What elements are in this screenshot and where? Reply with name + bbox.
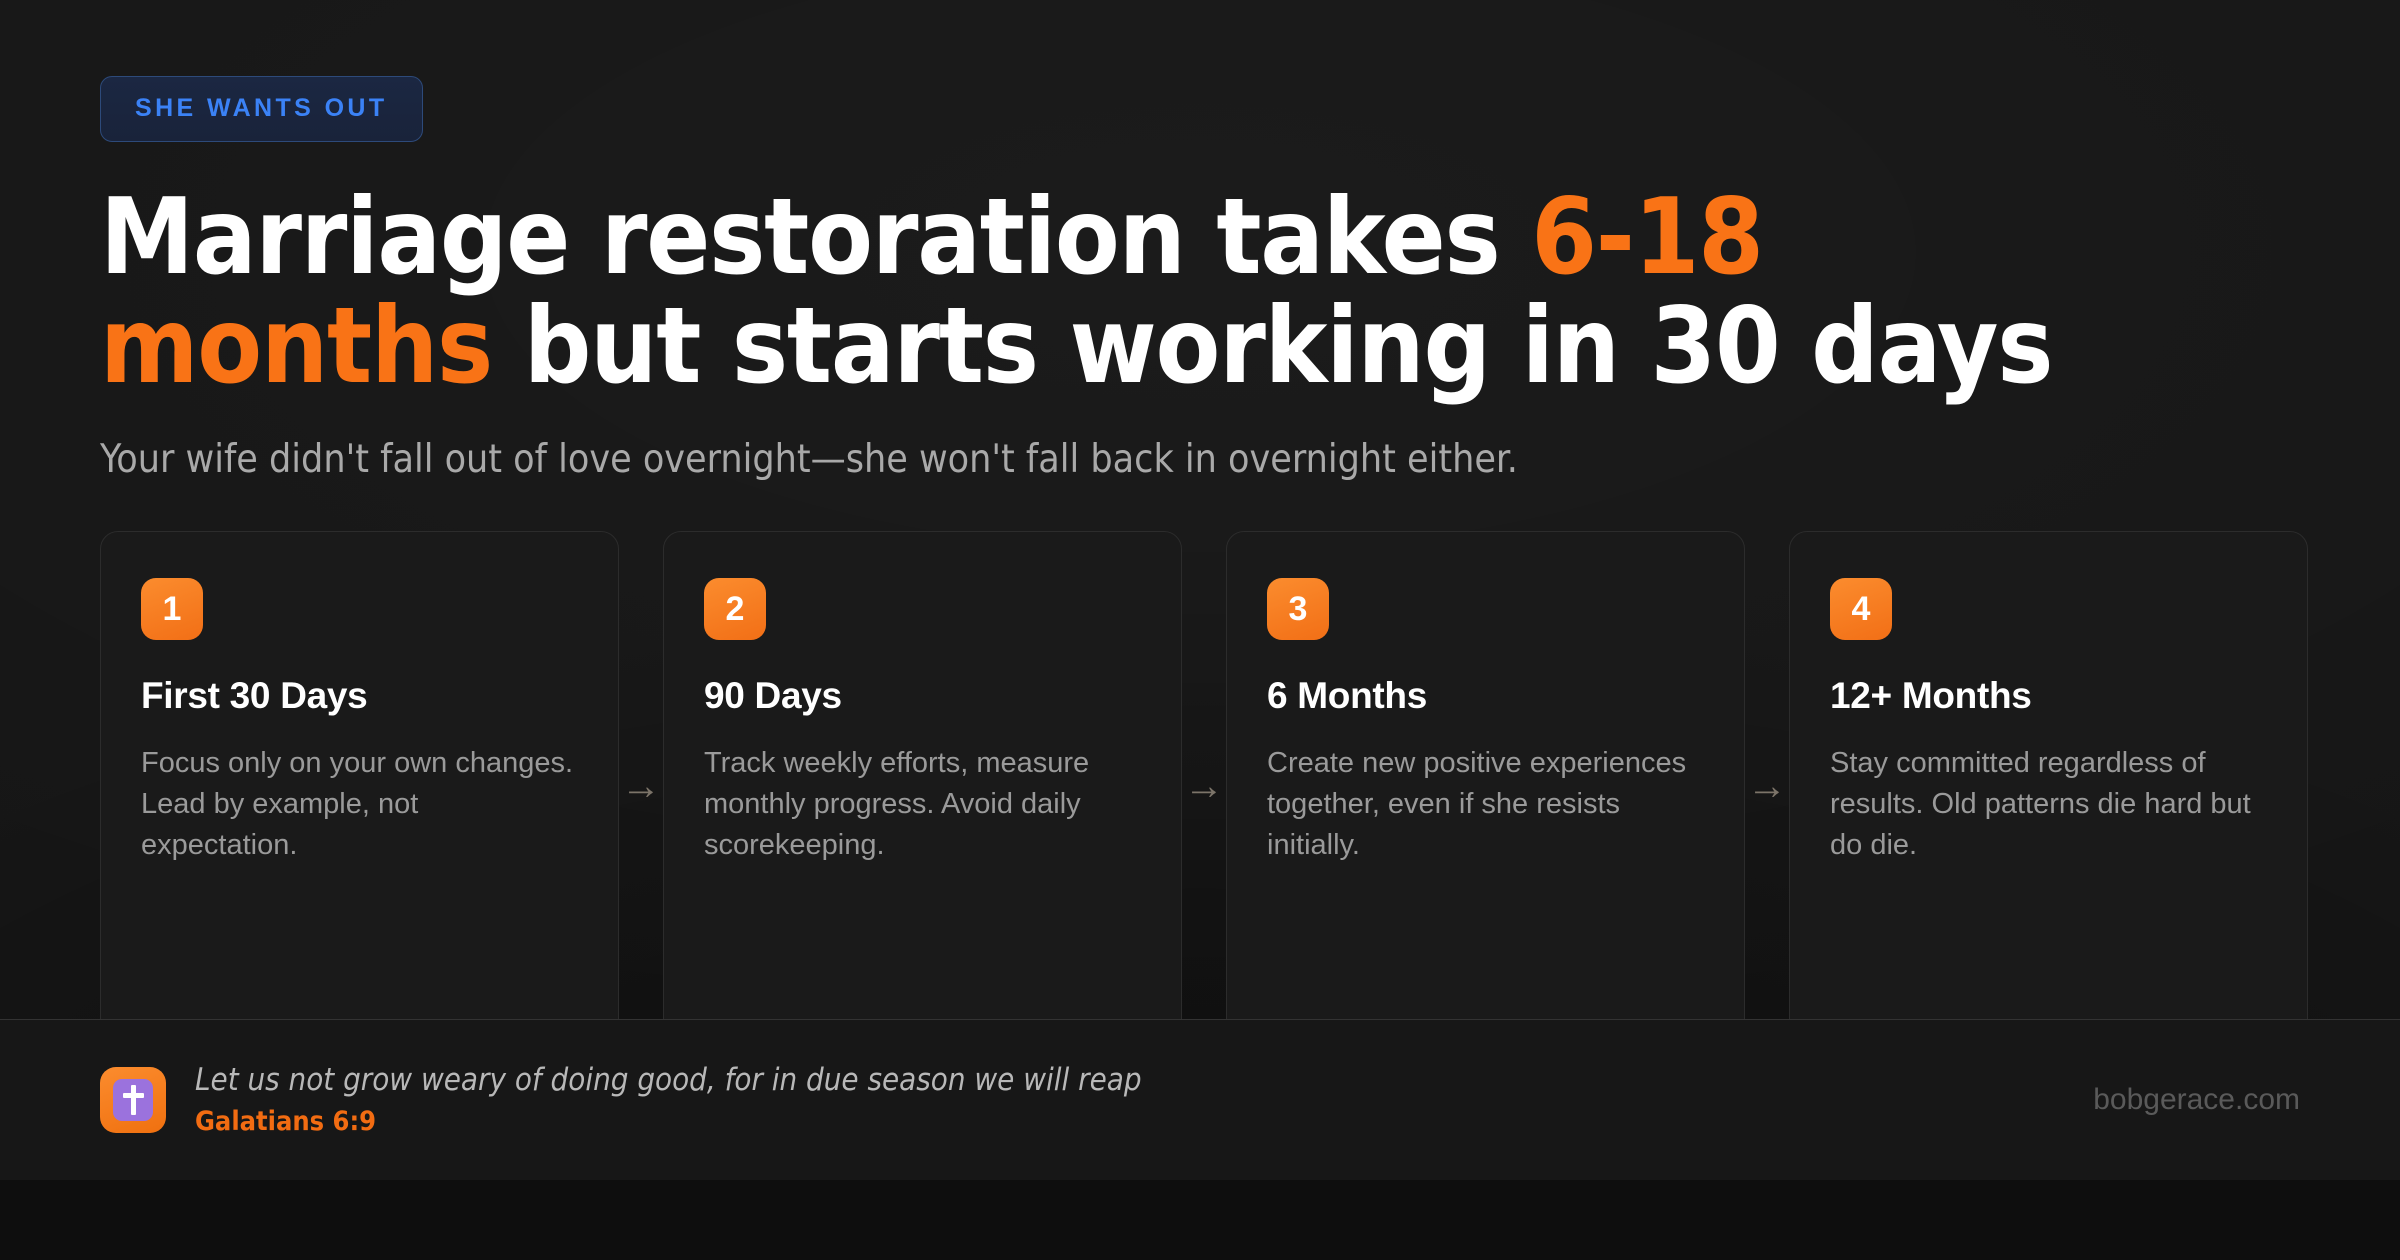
headline-part-2: but starts working in 30 days	[492, 285, 2052, 407]
footer-bar: Let us not grow weary of doing good, for…	[0, 1019, 2400, 1180]
verse-quote: Let us not grow weary of doing good, for…	[195, 1063, 1142, 1099]
step-number-badge: 2	[704, 578, 766, 640]
verse-text-group: Let us not grow weary of doing good, for…	[195, 1063, 1142, 1137]
scripture-block: Let us not grow weary of doing good, for…	[100, 1063, 2093, 1137]
arrow-right-icon: →	[1745, 531, 1789, 1041]
step-number-badge: 1	[141, 578, 203, 640]
page-subtitle: Your wife didn't fall out of love overni…	[100, 435, 2300, 486]
below-fold-area	[0, 1180, 2400, 1260]
eyebrow-badge: SHE WANTS OUT	[100, 76, 423, 142]
card-title: 12+ Months	[1830, 676, 2267, 717]
card-title: 6 Months	[1267, 676, 1704, 717]
timeline-card[interactable]: 4 12+ Months Stay committed regardless o…	[1789, 531, 2308, 1041]
timeline-card[interactable]: 1 First 30 Days Focus only on your own c…	[100, 531, 619, 1041]
slide-root: SHE WANTS OUT Marriage restoration takes…	[0, 0, 2400, 1260]
site-url: bobgerace.com	[2093, 1083, 2300, 1117]
card-description: Stay committed regardless of results. Ol…	[1830, 743, 2267, 867]
step-number-badge: 4	[1830, 578, 1892, 640]
arrow-right-icon: →	[1182, 531, 1226, 1041]
step-number-badge: 3	[1267, 578, 1329, 640]
arrow-right-icon: →	[619, 531, 663, 1041]
card-title: First 30 Days	[141, 676, 578, 717]
content-area: SHE WANTS OUT Marriage restoration takes…	[0, 0, 2400, 1041]
timeline-card[interactable]: 2 90 Days Track weekly efforts, measure …	[663, 531, 1182, 1041]
headline-part-1: Marriage restoration takes	[100, 176, 1531, 298]
verse-reference: Galatians 6:9	[195, 1106, 1142, 1137]
timeline-cards: 1 First 30 Days Focus only on your own c…	[100, 531, 2300, 1041]
card-description: Create new positive experiences together…	[1267, 743, 1704, 867]
card-slot-4: 4 12+ Months Stay committed regardless o…	[1789, 531, 2308, 1041]
page-title: Marriage restoration takes 6-18 months b…	[100, 183, 2160, 401]
card-slot-1: 1 First 30 Days Focus only on your own c…	[100, 531, 619, 1041]
card-description: Track weekly efforts, measure monthly pr…	[704, 743, 1141, 867]
cross-glyph	[113, 1079, 153, 1121]
cross-icon	[100, 1067, 166, 1133]
card-slot-3: 3 6 Months Create new positive experienc…	[1226, 531, 1745, 1041]
card-title: 90 Days	[704, 676, 1141, 717]
timeline-card[interactable]: 3 6 Months Create new positive experienc…	[1226, 531, 1745, 1041]
card-description: Focus only on your own changes. Lead by …	[141, 743, 578, 867]
card-slot-2: 2 90 Days Track weekly efforts, measure …	[663, 531, 1182, 1041]
